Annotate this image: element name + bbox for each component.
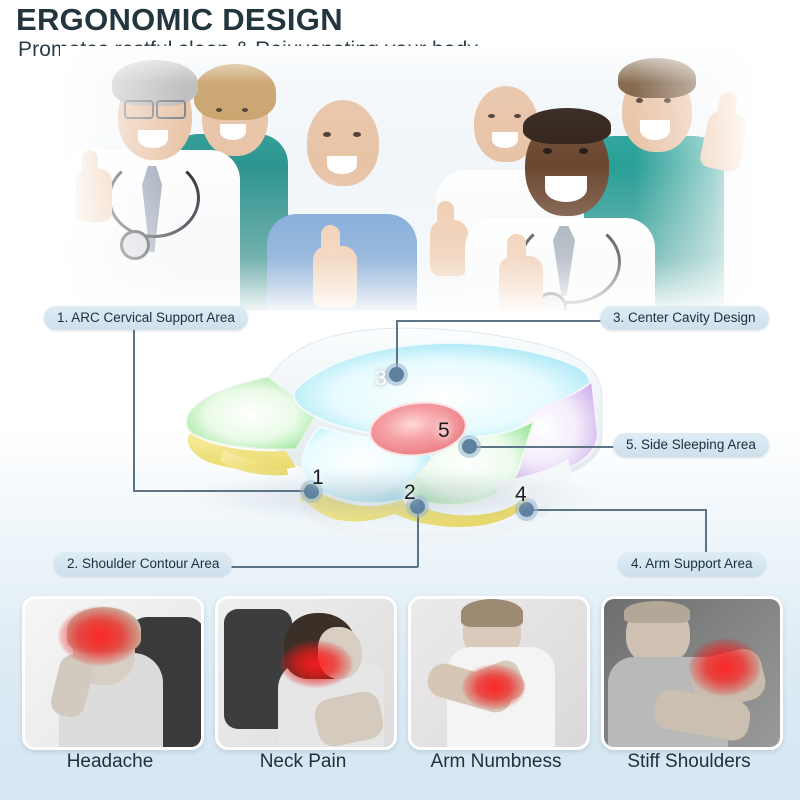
callout-label-1[interactable]: 1. ARC Cervical Support Area bbox=[44, 306, 248, 330]
symptom-card-headache[interactable] bbox=[22, 596, 204, 750]
infographic-page: ERGONOMIC DESIGN Promotes restful sleep … bbox=[0, 0, 800, 800]
page-title: ERGONOMIC DESIGN bbox=[16, 2, 343, 38]
callout-label-4[interactable]: 4. Arm Support Area bbox=[618, 552, 766, 576]
thumbs-up-icon bbox=[76, 168, 112, 222]
symptom-caption-neck-pain: Neck Pain bbox=[215, 751, 391, 773]
symptom-card-list: Headache Neck Pain Arm N bbox=[22, 596, 778, 796]
marker-number-1: 1 bbox=[312, 466, 324, 490]
symptom-caption-headache: Headache bbox=[22, 751, 198, 773]
thumbs-up-icon bbox=[430, 220, 468, 276]
callout-label-5[interactable]: 5. Side Sleeping Area bbox=[613, 433, 769, 457]
marker-number-3: 3 bbox=[375, 367, 387, 391]
marker-number-4: 4 bbox=[515, 483, 527, 507]
callout-label-2[interactable]: 2. Shoulder Contour Area bbox=[54, 552, 232, 576]
symptom-card-arm-numbness[interactable] bbox=[408, 596, 590, 750]
marker-dot-3[interactable] bbox=[389, 367, 404, 382]
marker-dot-5[interactable] bbox=[462, 439, 477, 454]
callout-label-3[interactable]: 3. Center Cavity Design bbox=[600, 306, 769, 330]
marker-number-5: 5 bbox=[438, 419, 450, 443]
symptom-card-neck-pain[interactable] bbox=[215, 596, 397, 750]
doctors-photo bbox=[60, 46, 760, 311]
symptom-caption-arm-numbness: Arm Numbness bbox=[408, 751, 584, 773]
symptom-card-stiff-shoulders[interactable] bbox=[601, 596, 783, 750]
marker-number-2: 2 bbox=[404, 481, 416, 505]
symptom-caption-stiff-shoulders: Stiff Shoulders bbox=[601, 751, 777, 773]
